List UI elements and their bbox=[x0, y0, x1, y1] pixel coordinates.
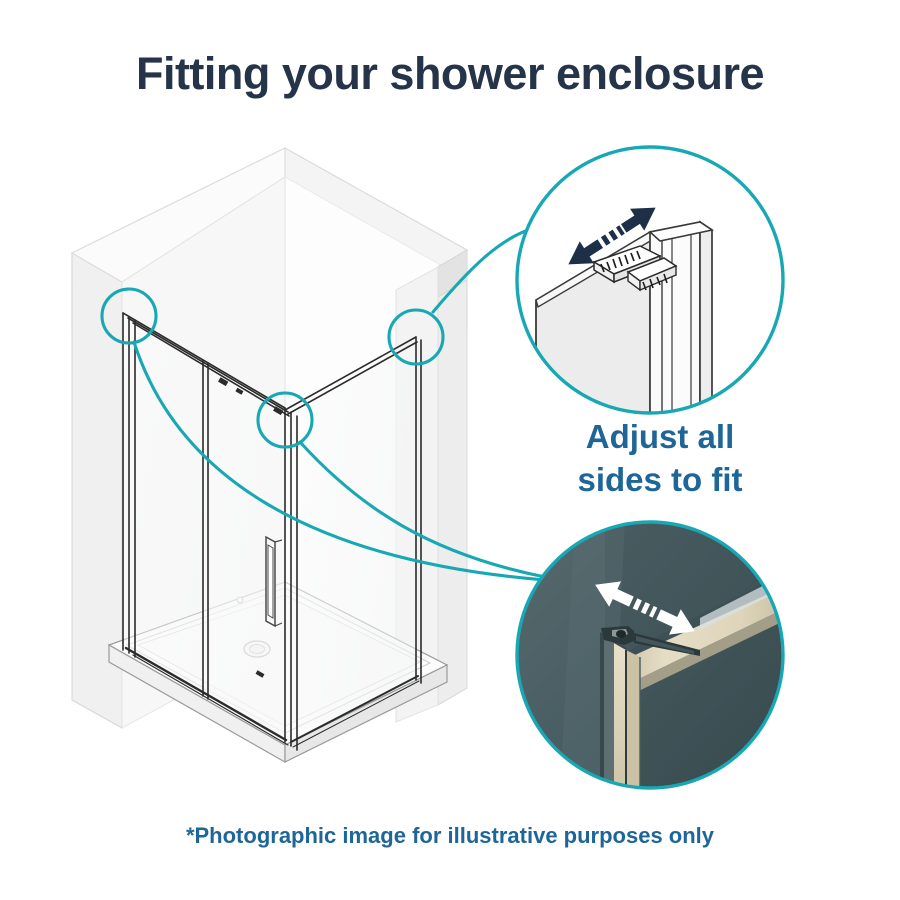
page-title: Fitting your shower enclosure bbox=[0, 48, 900, 100]
callout-bottom-photo bbox=[515, 520, 790, 790]
footnote-disclaimer: *Photographic image for illustrative pur… bbox=[0, 823, 900, 849]
poster-canvas: Fitting your shower enclosure Adjust all… bbox=[0, 0, 900, 900]
callout-top-profile-drawing bbox=[515, 145, 785, 430]
callout-label-line2: sides to fit bbox=[520, 458, 800, 501]
callout-label: Adjust all sides to fit bbox=[520, 415, 800, 501]
callout-label-line1: Adjust all bbox=[520, 415, 800, 458]
